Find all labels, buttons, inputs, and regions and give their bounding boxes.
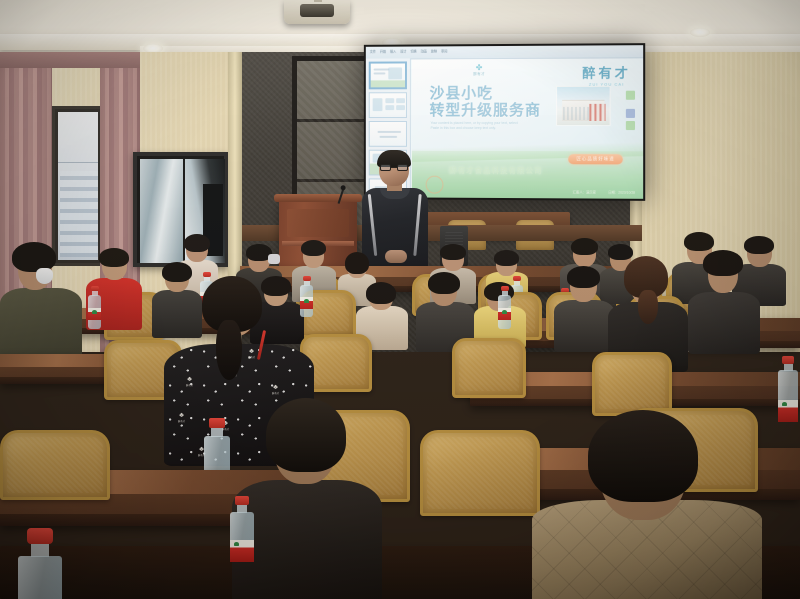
window-glass xyxy=(58,112,98,260)
thumb-line xyxy=(380,136,398,138)
thumb-image xyxy=(385,105,394,110)
ribbon-tab[interactable]: 开始 xyxy=(380,49,386,54)
ribbon-tab[interactable]: 放映 xyxy=(431,48,437,53)
slide-thumbnail[interactable] xyxy=(369,121,407,147)
person-torso xyxy=(0,288,82,358)
decor-square xyxy=(626,121,635,130)
audience-person xyxy=(688,250,760,350)
slide-title: 沙县小吃 转型升级服务商 xyxy=(430,85,541,119)
thumb-line xyxy=(374,72,386,74)
projector-mount xyxy=(314,0,322,2)
ceiling-projector xyxy=(284,0,350,24)
slide-subtitle: Your content is placed here, or by copyi… xyxy=(431,121,545,131)
thumb-image xyxy=(373,98,383,111)
person-hair xyxy=(440,244,466,260)
audience-person-ponytail-right xyxy=(608,256,688,366)
person-hair xyxy=(567,266,600,288)
thumb-image xyxy=(388,67,402,79)
slide-subtitle-line2: Paste in this box and choose keep text o… xyxy=(431,126,545,131)
thumb-green-band xyxy=(371,80,405,87)
thumb-image xyxy=(396,98,405,103)
slide-seal-icon xyxy=(426,176,444,194)
slide-thumbnail[interactable] xyxy=(369,61,407,89)
foreground-person-quilted xyxy=(532,414,762,599)
person-hair xyxy=(162,262,192,282)
face-mask-icon xyxy=(36,268,53,284)
slide-date: 日期：2023/10/28 xyxy=(608,190,635,195)
conference-room-photo: 文件 开始 插入 设计 切换 动画 放映 审阅 xyxy=(0,0,800,599)
person-torso xyxy=(688,292,760,354)
trefoil-logo-icon: ♣醉有才 xyxy=(186,376,193,390)
chair xyxy=(452,338,526,398)
person-phone-icon xyxy=(268,254,280,264)
person-hair xyxy=(301,240,326,256)
ribbon-tab[interactable]: 动画 xyxy=(421,48,427,53)
person-torso xyxy=(232,480,382,599)
curtain-valance xyxy=(0,52,140,68)
slide-title-line2: 转型升级服务商 xyxy=(430,102,541,119)
audience-person xyxy=(554,266,614,348)
slide-photo xyxy=(556,86,611,126)
person-hair xyxy=(571,238,598,255)
jacket-stripe xyxy=(413,194,421,256)
thumb-image xyxy=(385,98,394,103)
slide-cta-button[interactable]: 匠心品质好味道 xyxy=(568,154,622,164)
person-torso xyxy=(554,300,614,352)
person-hair xyxy=(494,250,519,266)
slide-company-name: 醉有才食品科技有限公司 xyxy=(449,165,542,176)
building-windows xyxy=(563,107,591,120)
current-slide[interactable]: ✤ 醉有才 沙县小吃 转型升级服务商 Your content is place… xyxy=(412,58,643,199)
window xyxy=(52,106,104,266)
podium-front-plate xyxy=(287,209,349,237)
thumb-image xyxy=(396,105,405,110)
trefoil-logo-icon: ♣醉有才 xyxy=(178,412,185,426)
audience-person xyxy=(416,272,474,348)
thumb-line xyxy=(374,68,390,70)
trefoil-logo-icon: ♣醉有才 xyxy=(272,384,279,398)
ribbon-tab[interactable]: 设计 xyxy=(400,49,406,54)
chair xyxy=(0,430,110,500)
slide-title-line1: 沙县小吃 xyxy=(430,85,541,102)
trefoil-logo-icon: ♣醉有才 xyxy=(248,348,255,362)
slide-thumbnail[interactable] xyxy=(369,92,407,118)
person-hair xyxy=(345,252,369,274)
ribbon-tab[interactable]: 插入 xyxy=(390,49,396,54)
person-hair xyxy=(184,234,210,252)
logo-mark-icon: ✤ xyxy=(467,64,491,72)
logo-name: 醉有才 xyxy=(467,72,491,77)
brand-name-cn: 醉有才 xyxy=(582,62,631,81)
decor-square xyxy=(626,91,635,100)
chair xyxy=(420,430,540,516)
slide-logo: ✤ 醉有才 xyxy=(467,64,491,77)
ribbon-tab[interactable]: 审阅 xyxy=(441,48,447,53)
decor-square xyxy=(626,109,635,118)
ribbon-tab[interactable]: 切换 xyxy=(410,48,416,53)
presenter-hands xyxy=(385,250,407,263)
ribbon-tabs[interactable]: 文件 开始 插入 设计 切换 动画 放映 审阅 xyxy=(370,48,448,53)
jacket-stripe xyxy=(368,194,377,256)
person-ponytail xyxy=(216,320,242,380)
person-ponytail xyxy=(638,290,658,324)
downlight-icon xyxy=(690,28,710,37)
building-red-wing xyxy=(589,104,605,121)
panel-divider xyxy=(297,179,369,182)
thumb-line xyxy=(378,131,402,133)
ribbon-tab[interactable]: 文件 xyxy=(370,49,376,54)
person-hair xyxy=(12,242,56,272)
person-hair xyxy=(99,248,129,267)
person-hair xyxy=(588,410,698,502)
chair xyxy=(592,352,672,416)
person-hair xyxy=(266,398,346,472)
slide-presenter: 汇报人：演示家 xyxy=(573,189,596,194)
slide-footer: 汇报人：演示家 日期：2023/10/28 xyxy=(573,189,635,194)
person-hair xyxy=(428,272,460,294)
person-hair xyxy=(703,250,743,276)
projector-lens-icon xyxy=(300,4,334,17)
person-hair xyxy=(684,232,714,251)
foreground-person-left xyxy=(232,404,382,599)
audience-person-masked xyxy=(0,244,82,354)
panel-divider xyxy=(297,119,369,122)
slide-brand-block: 醉有才 ZUI YOU CAI xyxy=(582,62,631,86)
presenter-glasses-icon xyxy=(380,164,408,171)
person-hair xyxy=(366,282,396,304)
podium-top xyxy=(274,194,362,202)
